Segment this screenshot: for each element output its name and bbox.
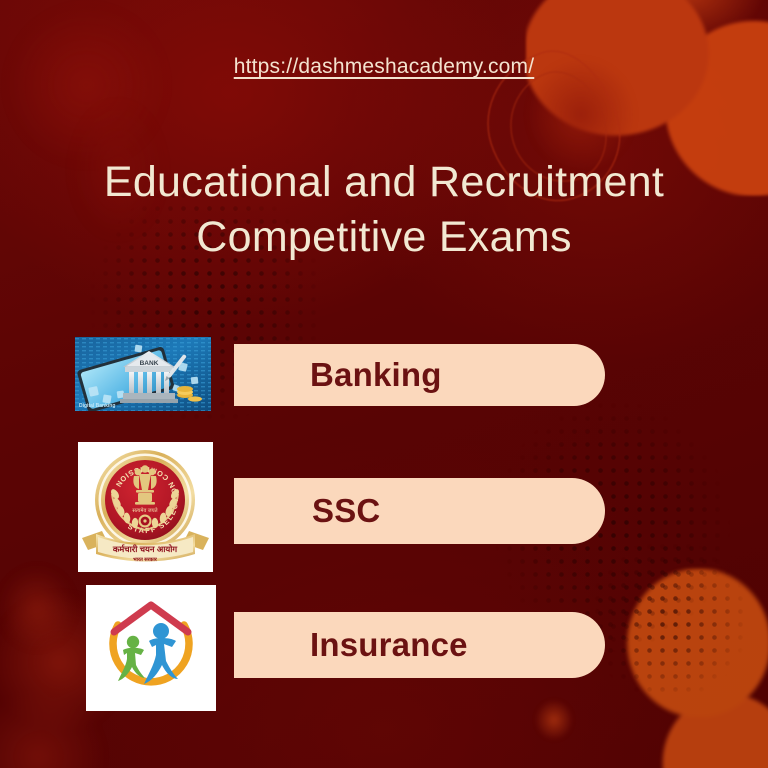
svg-text:BANK: BANK [140,360,159,367]
ssc-ribbon-text-sub: भारत सरकार [133,557,158,563]
site-url-link[interactable]: https://dashmeshacademy.com/ [0,55,768,79]
thumbnail-caption-banking: Digital Banking [79,403,115,409]
poster-content: https://dashmeshacademy.com/ Educational… [0,0,768,768]
category-label-ssc: SSC [312,492,380,530]
insurance-logo [86,585,216,711]
category-label-banking: Banking [310,356,442,394]
category-button-banking[interactable]: Banking [234,344,605,406]
thumbnail-ssc: STAFF SELECTION COMMISSION [78,442,213,572]
ssc-ribbon-text-hindi: कर्मचारी चयन आयोग [112,544,179,554]
page-title: Educational and Recruitment Competitive … [76,155,692,265]
thumbnail-insurance [86,585,216,711]
ssc-logo: STAFF SELECTION COMMISSION [78,442,213,572]
category-button-ssc[interactable]: SSC [234,478,605,544]
ssc-emblem-motto: सत्यमेव जयते [132,507,158,514]
category-button-insurance[interactable]: Insurance [234,612,605,678]
poster-canvas: https://dashmeshacademy.com/ Educational… [0,0,768,768]
category-label-insurance: Insurance [310,626,468,664]
digital-banking-image: BANK Digital Banking [75,337,211,411]
thumbnail-banking: BANK Digital Banking [75,337,211,411]
